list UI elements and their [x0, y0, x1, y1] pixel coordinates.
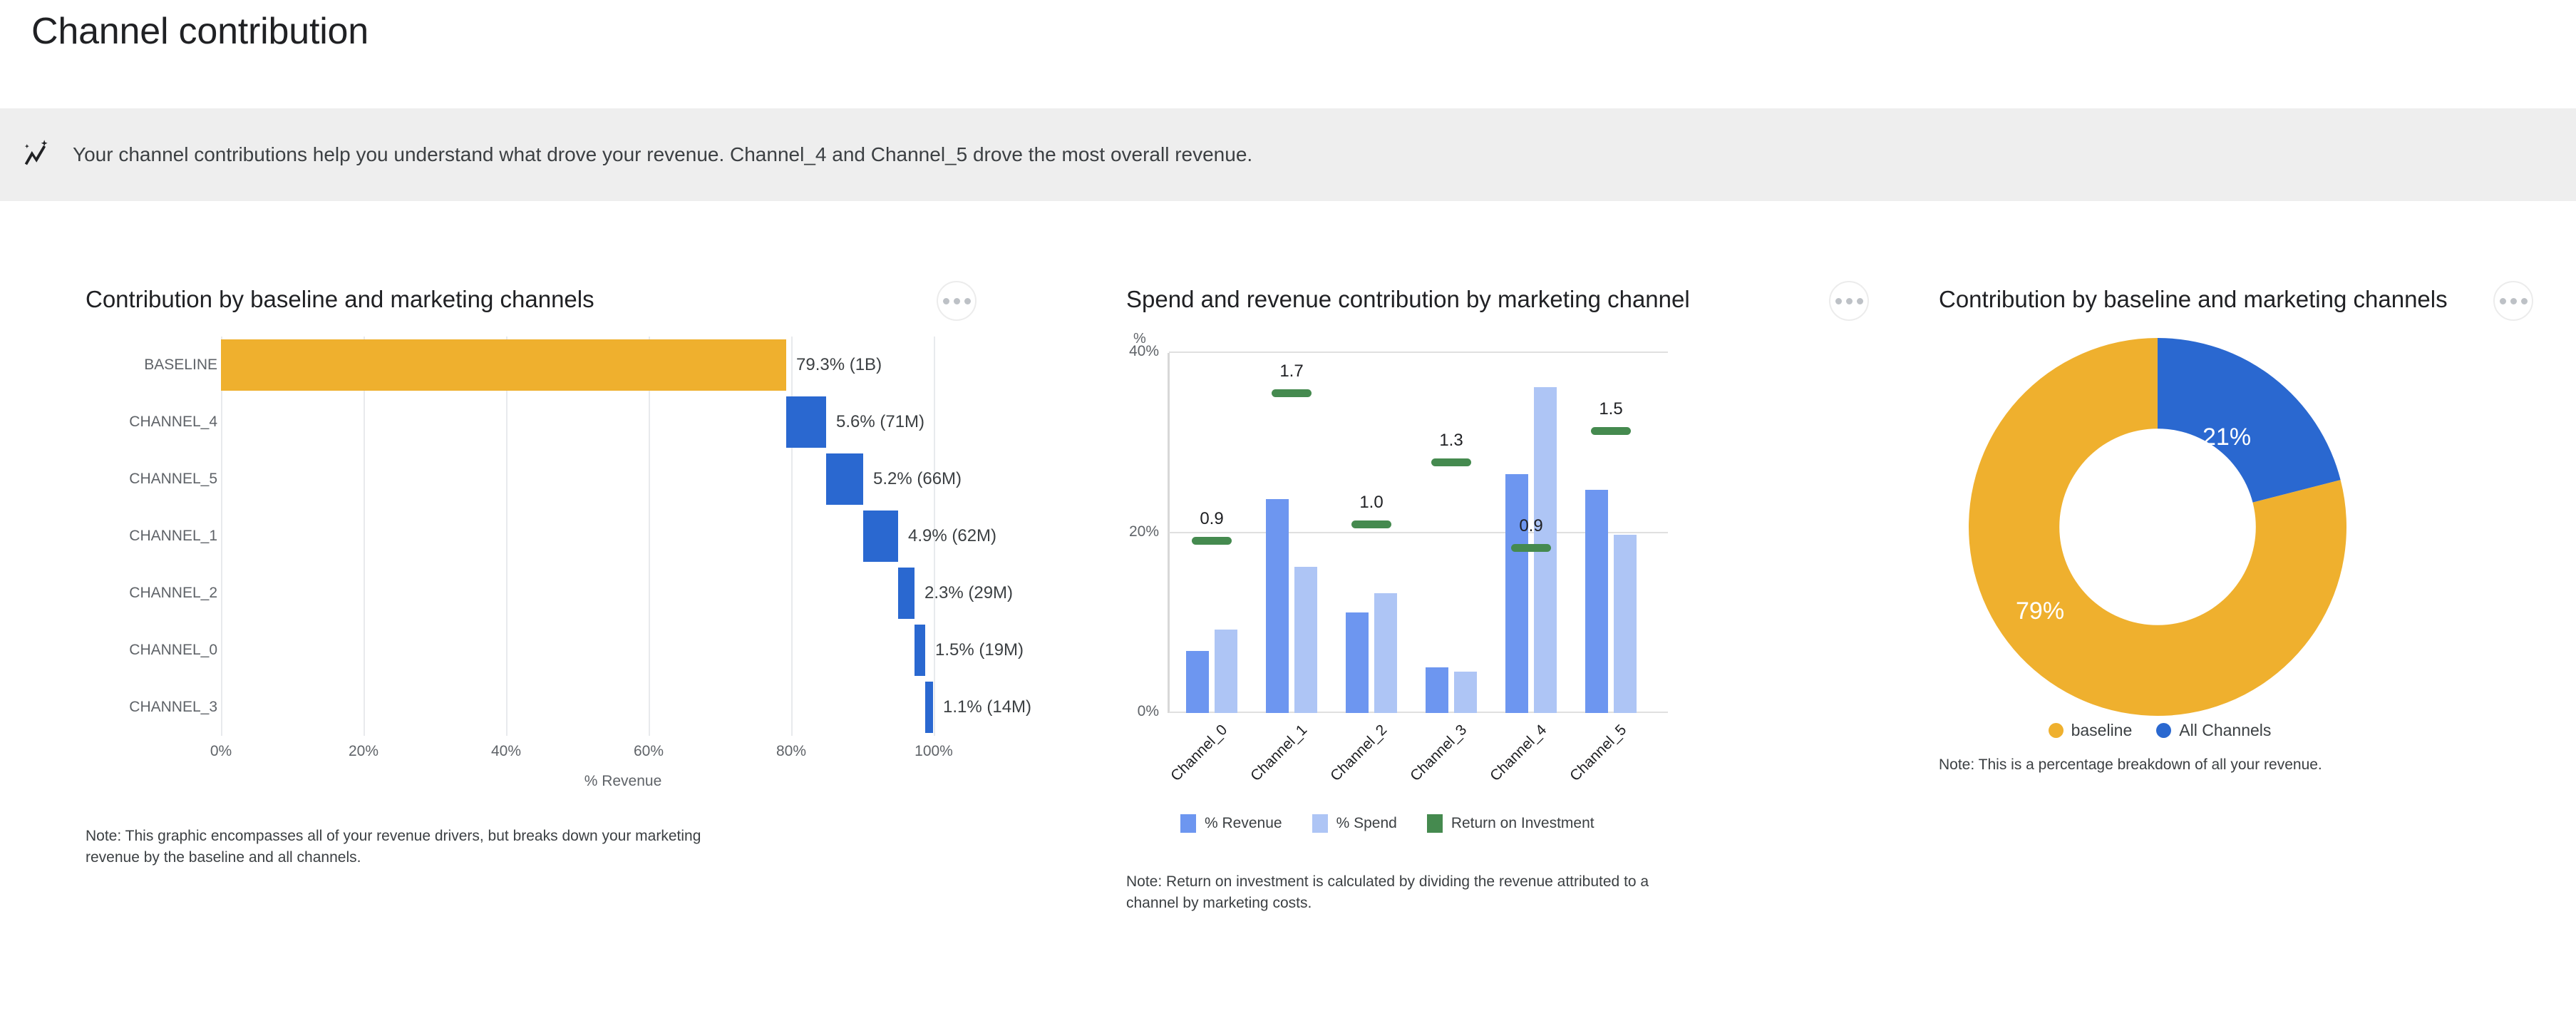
grouped-bar-group[interactable]: 1.7: [1262, 353, 1322, 713]
grouped-legend-label: % Spend: [1336, 815, 1397, 832]
donut-note: Note: This is a percentage breakdown of …: [1939, 754, 2438, 776]
roi-value-label: 1.7: [1279, 361, 1303, 381]
donut-legend-label: baseline: [2071, 721, 2133, 740]
grouped-bar-group[interactable]: 1.5: [1581, 353, 1641, 713]
waterfall-row[interactable]: CHANNEL_22.3% (29M): [86, 565, 1075, 622]
waterfall-chart: BASELINE79.3% (1B)CHANNEL_45.6% (71M)CHA…: [86, 337, 1091, 790]
waterfall-value-label: 5.2% (66M): [873, 451, 962, 508]
grouped-header: Spend and revenue contribution by market…: [1126, 287, 1882, 321]
insight-banner: Your channel contributions help you unde…: [0, 108, 2576, 201]
waterfall-value-label: 2.3% (29M): [924, 565, 1013, 622]
waterfall-note: Note: This graphic encompasses all of yo…: [86, 826, 727, 869]
waterfall-x-tick: 60%: [634, 743, 664, 760]
grouped-x-tick: Channel_3: [1407, 722, 1470, 785]
waterfall-x-tick: 80%: [776, 743, 806, 760]
bar-spend[interactable]: [1614, 535, 1637, 713]
bar-revenue[interactable]: [1346, 612, 1369, 713]
waterfall-header: Contribution by baseline and marketing c…: [86, 287, 1091, 321]
donut-svg: [1969, 338, 2346, 716]
legend-swatch-icon: [1427, 814, 1443, 833]
grouped-bar-chart: 0%20%40%0.91.71.01.30.91.5 Channel_0Chan…: [1126, 353, 1882, 833]
waterfall-plot-area: BASELINE79.3% (1B)CHANNEL_45.6% (71M)CHA…: [86, 337, 1075, 736]
legend-swatch-icon: [1312, 814, 1328, 833]
legend-dot-icon: [2156, 723, 2171, 738]
waterfall-bar[interactable]: [925, 682, 933, 733]
donut-legend-label: All Channels: [2179, 721, 2271, 740]
roi-marker[interactable]: [1192, 537, 1232, 545]
insights-sparkle-icon: [20, 138, 54, 172]
grouped-x-tick: Channel_2: [1327, 722, 1391, 785]
grouped-bar-group[interactable]: 1.0: [1341, 353, 1401, 713]
roi-value-label: 1.5: [1599, 399, 1622, 419]
waterfall-row[interactable]: CHANNEL_01.5% (19M): [86, 622, 1075, 679]
panel-donut: Contribution by baseline and marketing c…: [1882, 201, 2576, 915]
grouped-legend: % Revenue% SpendReturn on Investment: [1180, 814, 1882, 833]
waterfall-value-label: 1.5% (19M): [935, 622, 1024, 679]
waterfall-x-tick: 0%: [210, 743, 232, 760]
grouped-bar-group[interactable]: 1.3: [1421, 353, 1481, 713]
grouped-x-tick: Channel_0: [1168, 722, 1231, 785]
roi-marker[interactable]: [1272, 389, 1312, 397]
donut-header: Contribution by baseline and marketing c…: [1939, 287, 2576, 321]
roi-marker[interactable]: [1351, 520, 1391, 528]
bar-revenue[interactable]: [1426, 667, 1448, 713]
waterfall-value-label: 5.6% (71M): [836, 394, 924, 451]
donut-label-all-channels: 21%: [2203, 424, 2251, 451]
grouped-legend-item[interactable]: Return on Investment: [1427, 814, 1594, 833]
waterfall-value-label: 79.3% (1B): [796, 337, 882, 394]
bar-revenue[interactable]: [1585, 490, 1608, 713]
waterfall-category-label: CHANNEL_1: [86, 508, 217, 565]
grouped-x-tick: Channel_1: [1247, 722, 1311, 785]
waterfall-title: Contribution by baseline and marketing c…: [86, 287, 594, 312]
roi-marker[interactable]: [1431, 458, 1471, 466]
donut-chart: 21% 79% baselineAll Channels: [1939, 332, 2438, 717]
waterfall-bar[interactable]: [786, 396, 826, 448]
grouped-y-tick: 0%: [1138, 703, 1159, 720]
panel-grouped-bars: Spend and revenue contribution by market…: [1091, 201, 1882, 915]
grouped-note: Note: Return on investment is calculated…: [1126, 871, 1689, 915]
legend-swatch-icon: [1180, 814, 1196, 833]
bar-revenue[interactable]: [1266, 499, 1289, 713]
waterfall-row[interactable]: BASELINE79.3% (1B): [86, 337, 1075, 394]
waterfall-x-tick: 100%: [915, 743, 953, 760]
donut-legend-item[interactable]: baseline: [2049, 721, 2133, 740]
grouped-plot-area: 0%20%40%0.91.71.01.30.91.5: [1169, 353, 1668, 713]
grouped-x-tick: Channel_4: [1487, 722, 1550, 785]
waterfall-category-label: CHANNEL_5: [86, 451, 217, 508]
grouped-y-tick: 20%: [1129, 523, 1159, 540]
donut-more-options-button[interactable]: [2493, 281, 2533, 321]
grouped-x-tick: Channel_5: [1567, 722, 1630, 785]
waterfall-bar[interactable]: [221, 339, 786, 391]
waterfall-more-options-button[interactable]: [937, 281, 977, 321]
grouped-y-tick: 40%: [1129, 343, 1159, 360]
roi-value-label: 0.9: [1200, 509, 1223, 529]
grouped-more-options-button[interactable]: [1829, 281, 1869, 321]
donut-legend: baselineAll Channels: [1939, 721, 2381, 740]
waterfall-category-label: CHANNEL_3: [86, 679, 217, 736]
waterfall-x-tick: 40%: [491, 743, 521, 760]
charts-row: Contribution by baseline and marketing c…: [0, 201, 2576, 915]
waterfall-x-axis-title: % Revenue: [86, 773, 1075, 790]
page-title: Channel contribution: [31, 10, 369, 53]
bar-revenue[interactable]: [1505, 474, 1528, 713]
waterfall-bar[interactable]: [826, 453, 863, 505]
bar-spend[interactable]: [1374, 593, 1397, 713]
grouped-legend-label: % Revenue: [1205, 815, 1282, 832]
waterfall-row[interactable]: CHANNEL_31.1% (14M): [86, 679, 1075, 736]
donut-legend-item[interactable]: All Channels: [2156, 721, 2271, 740]
roi-value-label: 1.3: [1439, 431, 1463, 451]
waterfall-x-tick: 20%: [349, 743, 378, 760]
bar-spend[interactable]: [1454, 672, 1477, 713]
waterfall-x-axis: 0%20%40%60%80%100%: [86, 737, 1075, 770]
donut-label-baseline: 79%: [2016, 597, 2064, 625]
grouped-legend-label: Return on Investment: [1451, 815, 1594, 832]
grouped-bar-group[interactable]: 0.9: [1182, 353, 1242, 713]
donut-title: Contribution by baseline and marketing c…: [1939, 287, 2448, 312]
grouped-legend-item[interactable]: % Revenue: [1180, 814, 1282, 833]
bar-revenue[interactable]: [1186, 651, 1209, 713]
insight-text: Your channel contributions help you unde…: [73, 142, 1252, 168]
grouped-title: Spend and revenue contribution by market…: [1126, 287, 1690, 312]
waterfall-bar[interactable]: [915, 625, 925, 676]
waterfall-row[interactable]: CHANNEL_55.2% (66M): [86, 451, 1075, 508]
roi-marker[interactable]: [1511, 544, 1551, 552]
waterfall-row[interactable]: CHANNEL_45.6% (71M): [86, 394, 1075, 451]
roi-value-label: 0.9: [1519, 516, 1542, 536]
waterfall-category-label: CHANNEL_0: [86, 622, 217, 679]
grouped-y-axis-line: [1168, 353, 1170, 713]
waterfall-category-label: CHANNEL_2: [86, 565, 217, 622]
waterfall-value-label: 1.1% (14M): [943, 679, 1031, 736]
grouped-legend-item[interactable]: % Spend: [1312, 814, 1397, 833]
waterfall-value-label: 4.9% (62M): [908, 508, 996, 565]
roi-marker[interactable]: [1591, 427, 1631, 435]
waterfall-category-label: CHANNEL_4: [86, 394, 217, 451]
waterfall-category-label: BASELINE: [86, 337, 217, 394]
panel-waterfall: Contribution by baseline and marketing c…: [0, 201, 1091, 915]
roi-value-label: 1.0: [1359, 493, 1383, 513]
waterfall-bar[interactable]: [898, 568, 915, 619]
grouped-y-axis-unit: %: [1133, 331, 1882, 347]
waterfall-bar[interactable]: [863, 510, 898, 562]
bar-spend[interactable]: [1294, 567, 1317, 713]
waterfall-row[interactable]: CHANNEL_14.9% (62M): [86, 508, 1075, 565]
grouped-bar-group[interactable]: 0.9: [1501, 353, 1561, 713]
bar-spend[interactable]: [1215, 630, 1237, 713]
grouped-x-axis-labels: Channel_0Channel_1Channel_2Channel_3Chan…: [1169, 713, 1668, 799]
legend-dot-icon: [2049, 723, 2064, 738]
